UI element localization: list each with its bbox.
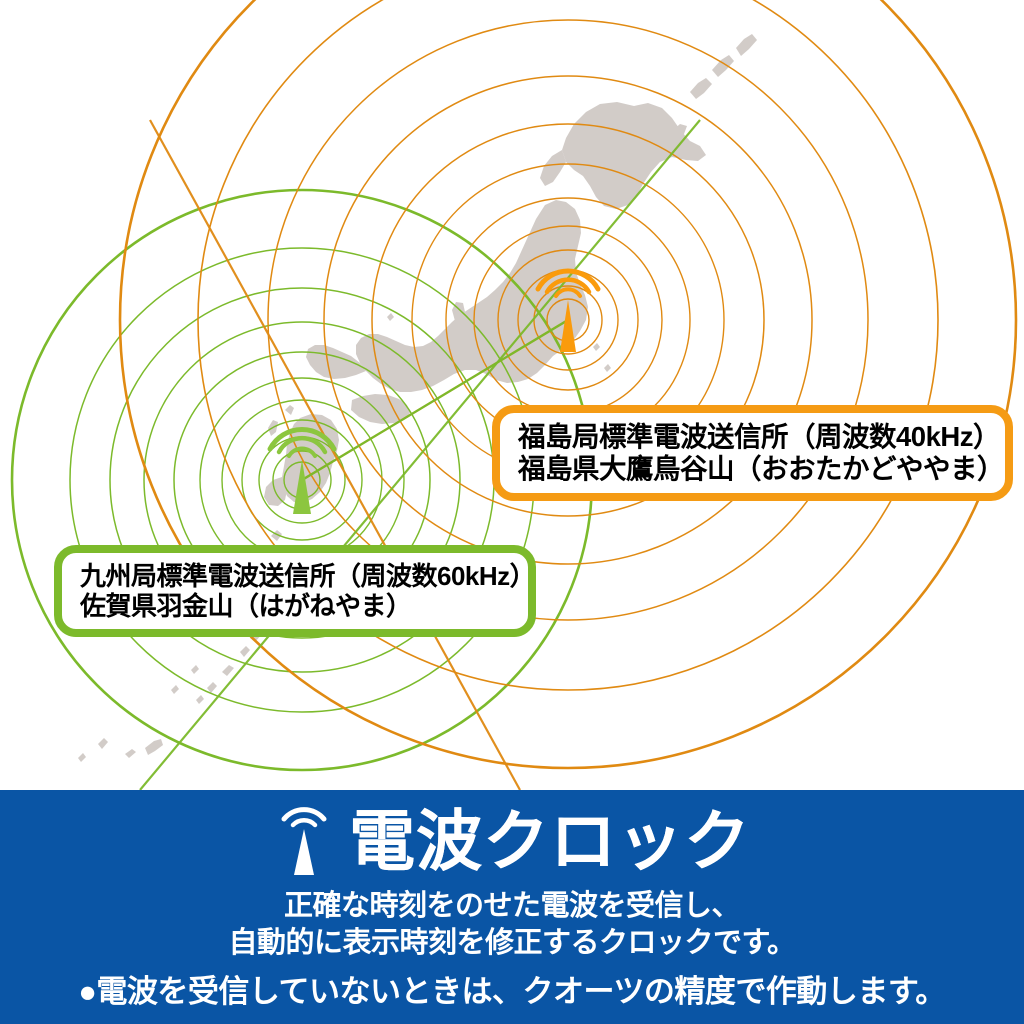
callout-fukushima-station[interactable]: 福島局標準電波送信所（周波数40kHz） 福島県大鷹鳥谷山（おおたかどややま）: [492, 405, 1013, 501]
footer-title-row: 電波クロック: [0, 790, 1024, 886]
footer-banner: 電波クロック 正確な時刻をのせた電波を受信し、 自動的に表示時刻を修正するクロッ…: [0, 790, 1024, 1024]
callout-kyushu-station[interactable]: 九州局標準電波送信所（周波数60kHz） 佐賀県羽金山（はがねやま）: [54, 545, 536, 637]
beam-line-orange: [150, 120, 520, 790]
map-area: 福島局標準電波送信所（周波数40kHz） 福島県大鷹鳥谷山（おおたかどややま） …: [0, 0, 1024, 790]
callout-kyushu-line1: 九州局標準電波送信所（周波数60kHz）: [80, 561, 528, 591]
footer-description-line2: 自動的に表示時刻を修正するクロックです。: [0, 925, 1024, 962]
poster-root: 福島局標準電波送信所（周波数40kHz） 福島県大鷹鳥谷山（おおたかどややま） …: [0, 0, 1024, 1024]
radio-wave-antenna-icon: [273, 803, 335, 879]
callout-kyushu-line2: 佐賀県羽金山（はがねやま）: [80, 591, 528, 621]
footer-title: 電波クロック: [349, 808, 751, 874]
japan-map-svg: [0, 0, 1024, 790]
callout-fukushima-line1: 福島局標準電波送信所（周波数40kHz）: [518, 421, 1005, 453]
japan-landmass: [78, 34, 757, 762]
callout-fukushima-line2: 福島県大鷹鳥谷山（おおたかどややま）: [518, 453, 1005, 485]
footer-description-line1: 正確な時刻をのせた電波を受信し、: [0, 888, 1024, 925]
footer-description: 正確な時刻をのせた電波を受信し、 自動的に表示時刻を修正するクロックです。: [0, 888, 1024, 962]
footer-note: ●電波を受信していないときは、クオーツの精度で作動します。: [0, 976, 1024, 1007]
